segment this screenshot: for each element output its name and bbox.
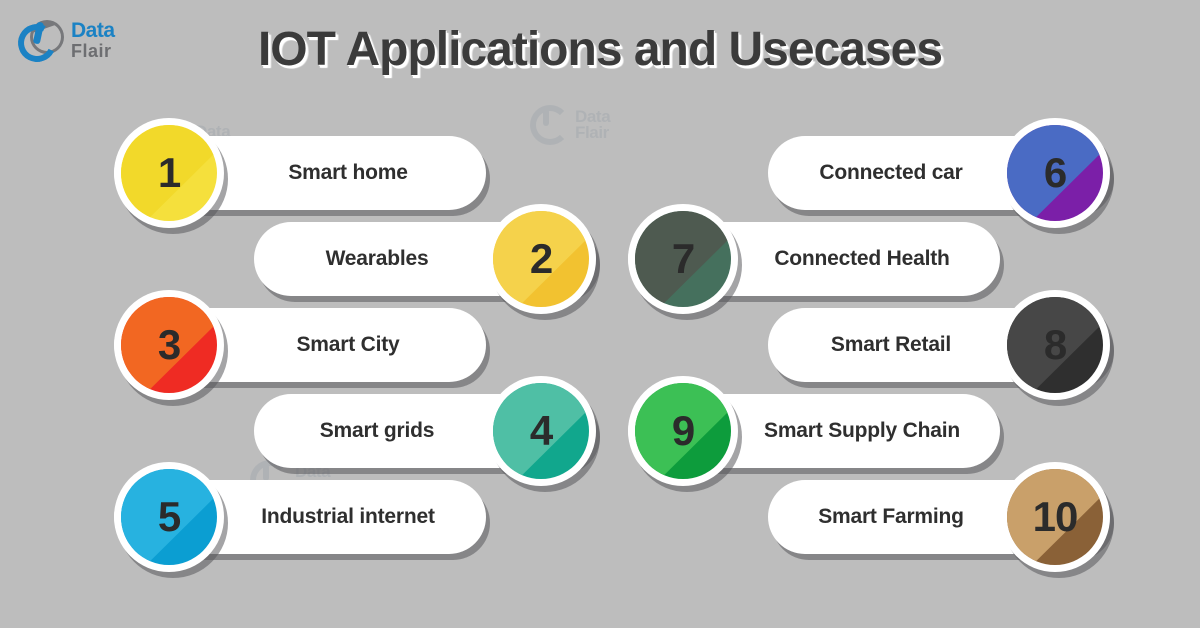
infographic-item[interactable]: Smart Supply Chain9 [628, 394, 1000, 468]
item-label: Smart City [210, 333, 486, 357]
item-number: 1 [158, 149, 180, 197]
infographic-item[interactable]: Smart Farming10 [768, 480, 1110, 554]
item-circle-disc: 8 [1007, 297, 1103, 393]
item-label: Connected Health [724, 247, 1000, 271]
item-number-circle[interactable]: 8 [1000, 290, 1110, 400]
item-number: 9 [672, 407, 694, 455]
item-circle-disc: 2 [493, 211, 589, 307]
item-label: Industrial internet [210, 505, 486, 529]
item-circle-disc: 3 [121, 297, 217, 393]
infographic-item[interactable]: Smart home1 [114, 136, 486, 210]
item-number: 5 [158, 493, 180, 541]
item-number-circle[interactable]: 1 [114, 118, 224, 228]
infographic-item[interactable]: Wearables2 [254, 222, 596, 296]
item-number: 7 [672, 235, 694, 283]
item-number: 6 [1044, 149, 1066, 197]
item-label: Smart Farming [768, 505, 1014, 529]
item-number: 8 [1044, 321, 1066, 369]
infographic-board: Smart home1Wearables2Smart City3Smart gr… [0, 0, 1200, 628]
item-number-circle[interactable]: 7 [628, 204, 738, 314]
item-number: 2 [530, 235, 552, 283]
infographic-item[interactable]: Smart City3 [114, 308, 486, 382]
item-number-circle[interactable]: 5 [114, 462, 224, 572]
item-label: Smart Retail [768, 333, 1014, 357]
item-number-circle[interactable]: 2 [486, 204, 596, 314]
item-number-circle[interactable]: 6 [1000, 118, 1110, 228]
infographic-item[interactable]: Industrial internet5 [114, 480, 486, 554]
item-label: Smart Supply Chain [724, 419, 1000, 443]
item-number-circle[interactable]: 9 [628, 376, 738, 486]
item-circle-disc: 7 [635, 211, 731, 307]
item-label: Wearables [254, 247, 500, 271]
item-number: 3 [158, 321, 180, 369]
item-number-circle[interactable]: 4 [486, 376, 596, 486]
infographic-item[interactable]: Connected car6 [768, 136, 1110, 210]
item-circle-disc: 4 [493, 383, 589, 479]
item-circle-disc: 10 [1007, 469, 1103, 565]
infographic-item[interactable]: Connected Health7 [628, 222, 1000, 296]
item-number: 4 [530, 407, 552, 455]
item-label: Connected car [768, 161, 1014, 185]
item-circle-disc: 1 [121, 125, 217, 221]
item-circle-disc: 6 [1007, 125, 1103, 221]
item-circle-disc: 9 [635, 383, 731, 479]
item-number: 10 [1033, 493, 1078, 541]
item-label: Smart grids [254, 419, 500, 443]
infographic-item[interactable]: Smart grids4 [254, 394, 596, 468]
item-circle-disc: 5 [121, 469, 217, 565]
infographic-item[interactable]: Smart Retail8 [768, 308, 1110, 382]
item-number-circle[interactable]: 3 [114, 290, 224, 400]
item-label: Smart home [210, 161, 486, 185]
item-number-circle[interactable]: 10 [1000, 462, 1110, 572]
